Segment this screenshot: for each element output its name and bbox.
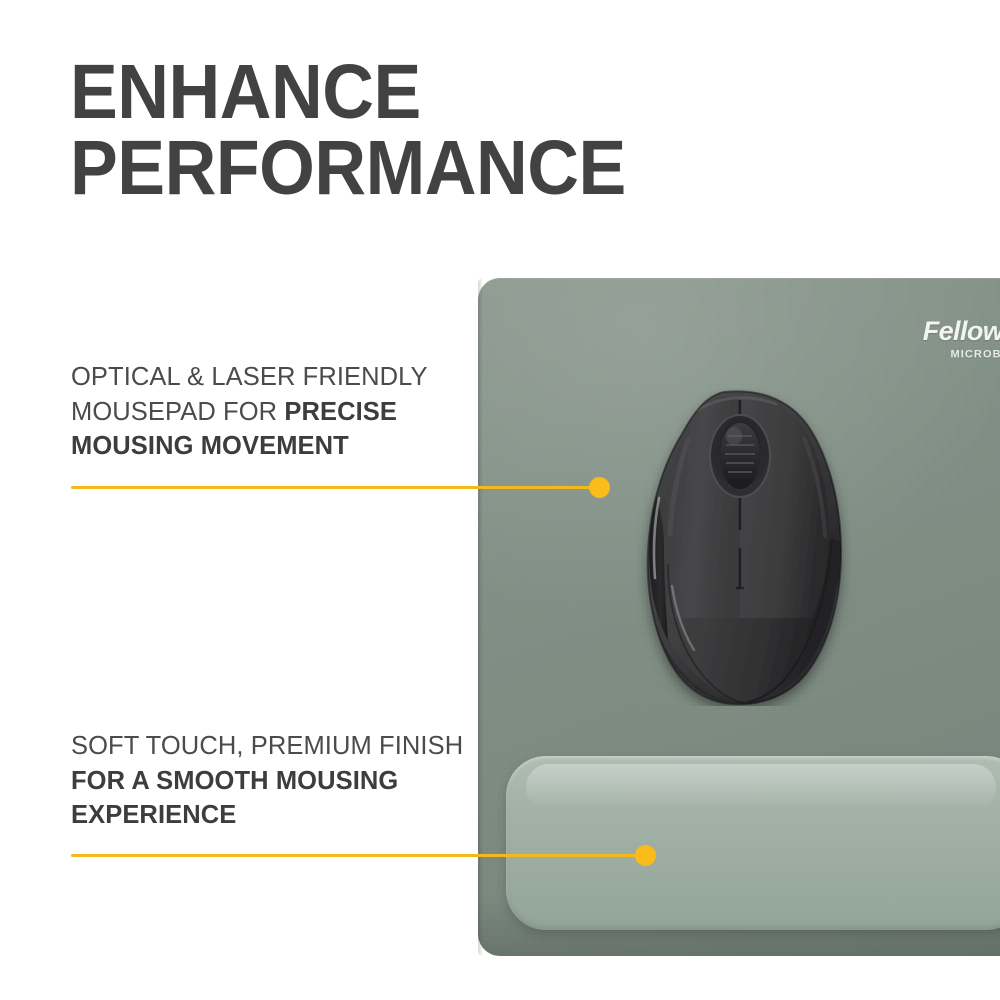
callout-dot-1 (589, 477, 610, 498)
brand-logo: Fellowes MICROBAN® (923, 318, 1000, 361)
callout-text-2: SOFT TOUCH, PREMIUM FINISH FOR A SMOOTH … (71, 729, 471, 833)
wrist-rest-highlight (526, 764, 996, 810)
brand-sub-microban: MICROBAN® (923, 348, 1000, 361)
callout-2-bold: FOR A SMOOTH MOUSING EXPERIENCE (71, 767, 398, 830)
headline-line-1: ENHANCE (70, 54, 721, 130)
headline-line-2: PERFORMANCE (70, 130, 721, 206)
page-title: ENHANCE PERFORMANCE (70, 54, 721, 206)
callout-text-1: OPTICAL & LASER FRIENDLY MOUSEPAD FOR PR… (71, 360, 501, 464)
wireless-mouse (636, 388, 852, 706)
microban-text: MICROBAN (950, 349, 1000, 361)
mouse-shape (646, 391, 841, 706)
callout-2-regular: SOFT TOUCH, PREMIUM FINISH (71, 732, 463, 760)
product-feature-graphic: ENHANCE PERFORMANCE Fellowes MICROBAN® (0, 0, 1000, 1000)
callout-leader-line-1 (71, 486, 599, 489)
callout-dot-2 (635, 845, 656, 866)
mouse-scroll-wheel-shine (726, 427, 742, 445)
callout-leader-line-2 (71, 854, 646, 857)
gel-wrist-rest (506, 756, 1000, 930)
brand-name-fellowes: Fellowes (923, 318, 1000, 345)
